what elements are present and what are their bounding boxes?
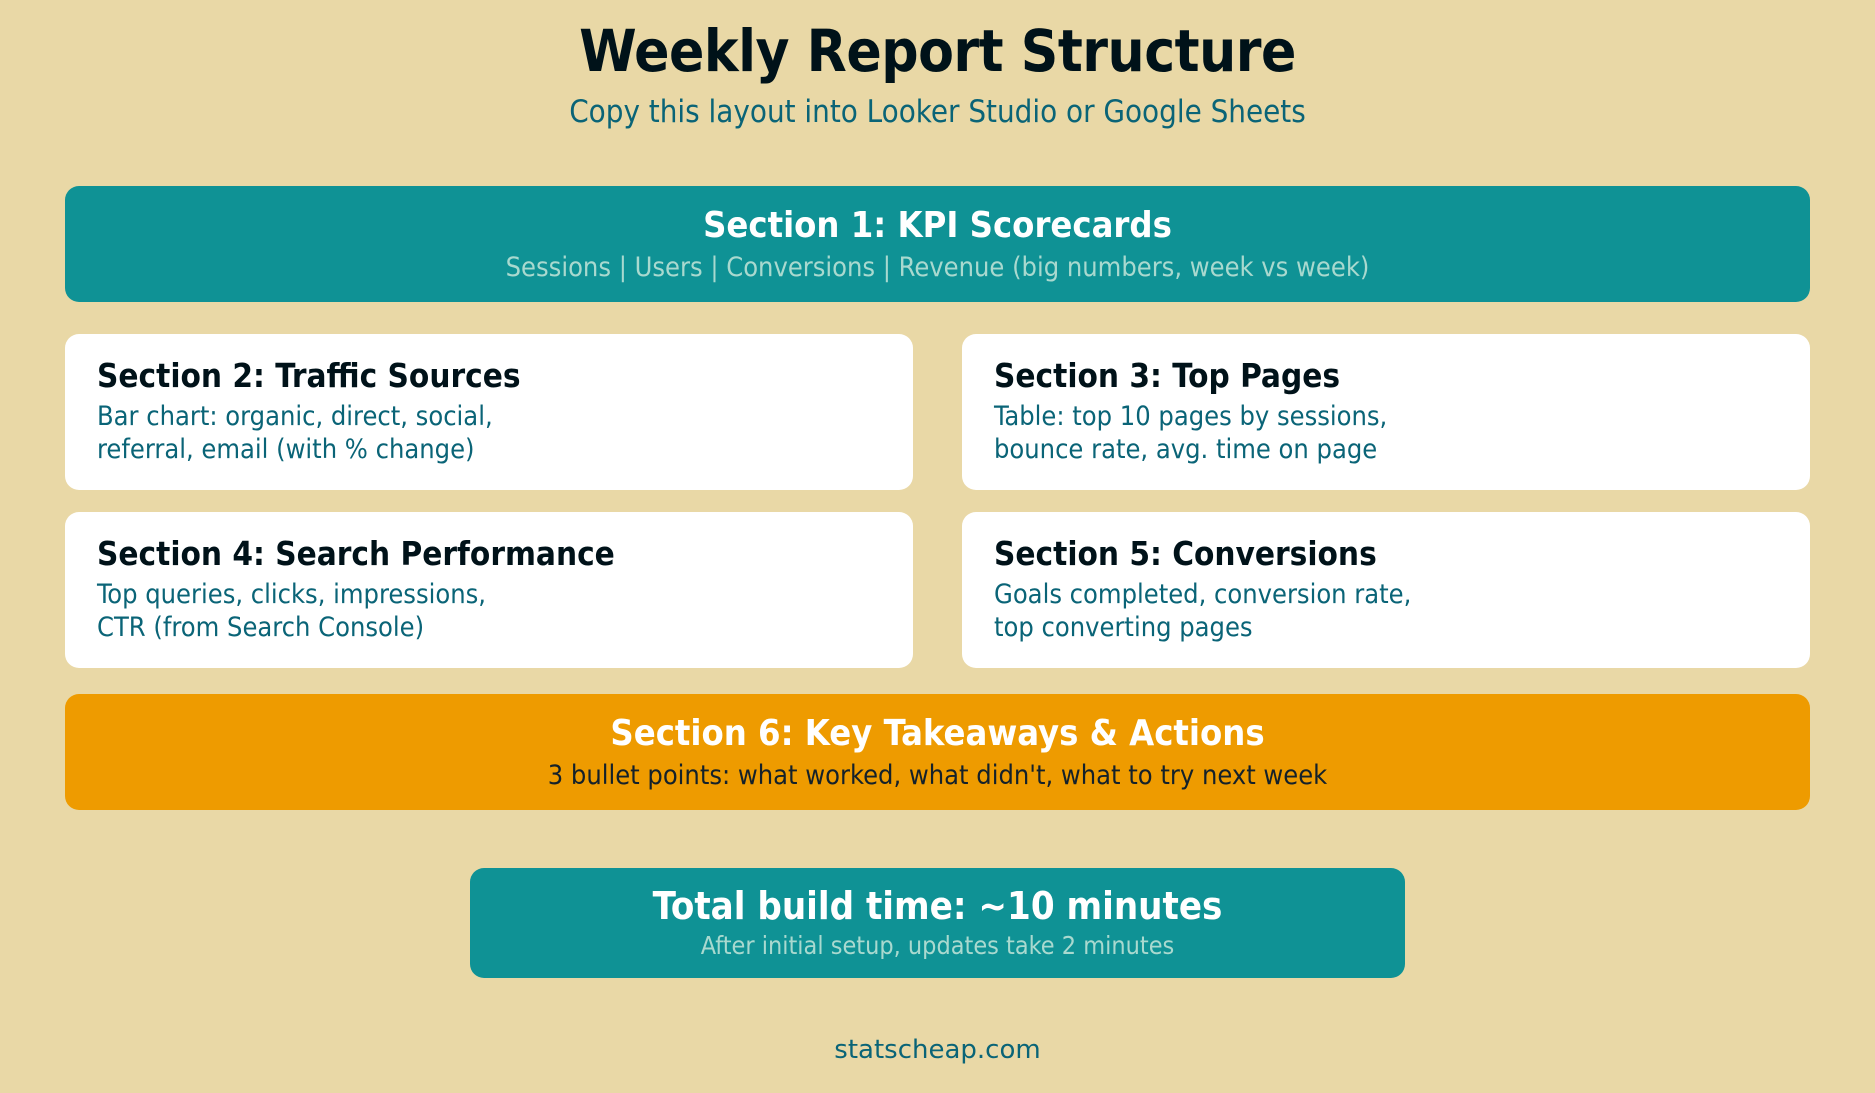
infographic-page: Weekly Report Structure Copy this layout…	[0, 0, 1875, 1093]
total-build-time-title: Total build time: ~10 minutes	[653, 885, 1223, 929]
section-4-title: Section 4: Search Performance	[97, 536, 881, 573]
section-2-card: Section 2: Traffic Sources Bar chart: or…	[65, 334, 913, 490]
section-5-body: Goals completed, conversion rate, top co…	[994, 579, 1778, 645]
section-6-title: Section 6: Key Takeaways & Actions	[610, 713, 1264, 754]
header: Weekly Report Structure Copy this layout…	[0, 20, 1875, 129]
section-1-banner: Section 1: KPI Scorecards Sessions | Use…	[65, 186, 1810, 302]
page-subtitle: Copy this layout into Looker Studio or G…	[0, 95, 1875, 129]
section-4-body: Top queries, clicks, impressions, CTR (f…	[97, 579, 881, 645]
total-build-time-callout: Total build time: ~10 minutes After init…	[470, 868, 1405, 978]
section-2-body: Bar chart: organic, direct, social, refe…	[97, 401, 881, 467]
section-1-subtitle: Sessions | Users | Conversions | Revenue…	[506, 252, 1370, 283]
section-2-title: Section 2: Traffic Sources	[97, 358, 881, 395]
site-credit: statscheap.com	[0, 1035, 1875, 1065]
section-5-card: Section 5: Conversions Goals completed, …	[962, 512, 1810, 668]
section-4-card: Section 4: Search Performance Top querie…	[65, 512, 913, 668]
section-3-card: Section 3: Top Pages Table: top 10 pages…	[962, 334, 1810, 490]
section-1-title: Section 1: KPI Scorecards	[703, 205, 1172, 246]
section-5-title: Section 5: Conversions	[994, 536, 1778, 573]
section-3-title: Section 3: Top Pages	[994, 358, 1778, 395]
section-6-subtitle: 3 bullet points: what worked, what didn'…	[548, 760, 1328, 791]
total-build-time-subtitle: After initial setup, updates take 2 minu…	[701, 932, 1175, 961]
section-6-banner: Section 6: Key Takeaways & Actions 3 bul…	[65, 694, 1810, 810]
page-title: Weekly Report Structure	[0, 20, 1875, 83]
section-3-body: Table: top 10 pages by sessions, bounce …	[994, 401, 1778, 467]
